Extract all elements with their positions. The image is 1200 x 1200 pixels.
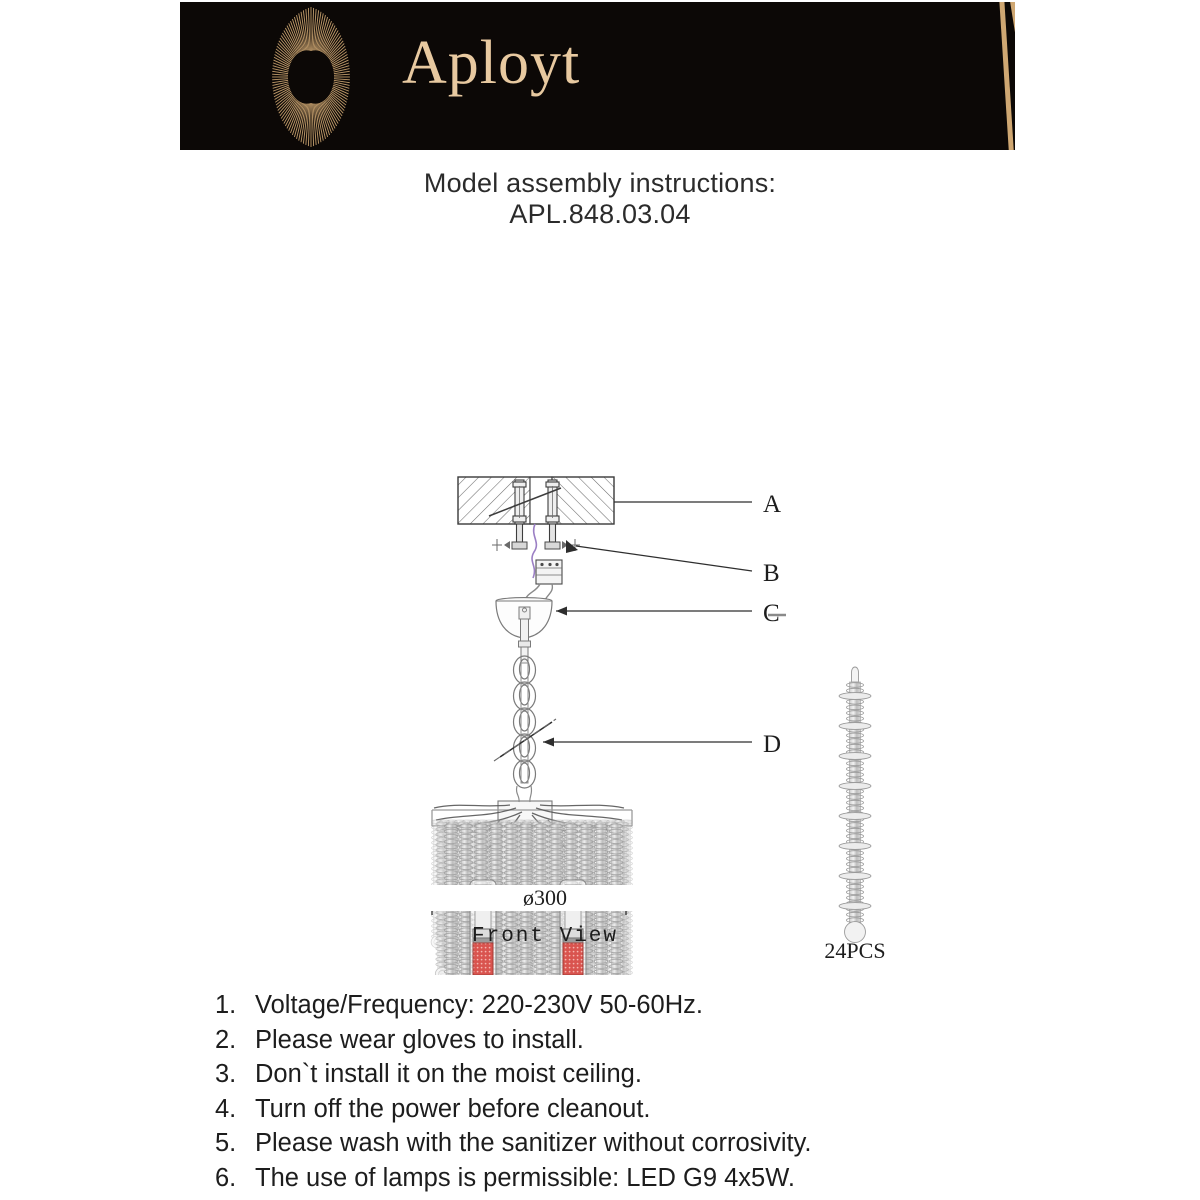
assembly-drawing — [0, 230, 1200, 975]
list-item-text: Voltage/Frequency: 220-230V 50-60Hz. — [255, 988, 1115, 1023]
page-title: Model assembly instructions: — [0, 168, 1200, 199]
list-item: 6. The use of lamps is permissible: LED … — [215, 1161, 1115, 1196]
callout-label-c: C — [763, 600, 780, 628]
front-view-caption: Front View — [410, 925, 680, 948]
list-item-number: 4. — [215, 1092, 255, 1127]
part-quantity-label: 24PCS — [790, 938, 920, 964]
sunburst-logo-icon — [238, 4, 384, 150]
canopy-cover — [496, 598, 552, 663]
list-item: 2. Please wear gloves to install. — [215, 1023, 1115, 1058]
diameter-dimension: ø300 — [410, 885, 680, 911]
suspension-chain — [514, 656, 536, 788]
list-item-text: The use of lamps is permissible: LED G9 … — [255, 1161, 1115, 1196]
instructions-list: 1. Voltage/Frequency: 220-230V 50-60Hz. … — [215, 988, 1115, 1195]
list-item-text: Please wear gloves to install. — [255, 1023, 1115, 1058]
list-item-number: 5. — [215, 1126, 255, 1161]
terminal-block — [525, 560, 562, 600]
callout-leader-lines — [543, 502, 752, 742]
list-item-number: 2. — [215, 1023, 255, 1058]
radiating-rays-icon — [605, 2, 1015, 150]
list-item: 3. Don`t install it on the moist ceiling… — [215, 1057, 1115, 1092]
ceiling-mounting-bracket — [458, 477, 614, 542]
list-item-text: Turn off the power before cleanout. — [255, 1092, 1115, 1127]
list-item: 4. Turn off the power before cleanout. — [215, 1092, 1115, 1127]
list-item-text: Don`t install it on the moist ceiling. — [255, 1057, 1115, 1092]
crystal-bead-rod-part — [839, 667, 871, 942]
assembly-diagram: A B C D — [0, 230, 1200, 975]
callout-label-b: B — [763, 560, 780, 588]
callout-label-a: A — [763, 491, 781, 519]
brand-header-banner: Aployt — [180, 2, 1015, 150]
brand-wordmark: Aployt — [402, 32, 580, 94]
list-item-number: 1. — [215, 988, 255, 1023]
list-item: 5. Please wash with the sanitizer withou… — [215, 1126, 1115, 1161]
model-code: APL.848.03.04 — [0, 199, 1200, 230]
list-item-number: 6. — [215, 1161, 255, 1196]
callout-label-d: D — [763, 731, 781, 759]
list-item-number: 3. — [215, 1057, 255, 1092]
list-item-text: Please wash with the sanitizer without c… — [255, 1126, 1115, 1161]
list-item: 1. Voltage/Frequency: 220-230V 50-60Hz. — [215, 988, 1115, 1023]
